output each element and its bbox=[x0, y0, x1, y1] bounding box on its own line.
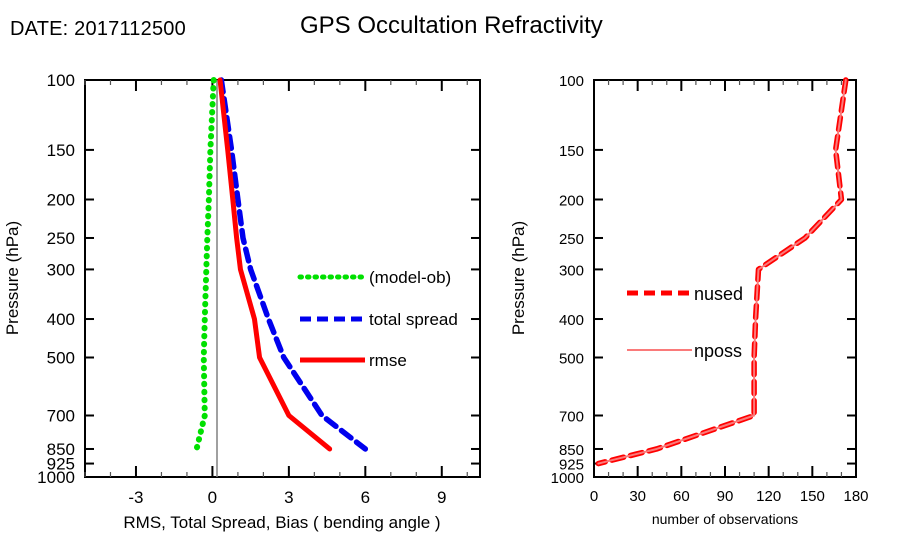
y-tick-label: 200 bbox=[47, 191, 75, 210]
left-x-axis-title: RMS, Total Spread, Bias ( bending angle … bbox=[123, 513, 440, 532]
legend-label-rmse: rmse bbox=[369, 351, 407, 370]
x-tick-label: 30 bbox=[629, 488, 646, 505]
right-y-axis-title: Pressure (hPa) bbox=[509, 221, 528, 335]
legend-label-nused: nused bbox=[694, 284, 743, 304]
right-x-tick-labels: 0306090120150180 bbox=[590, 488, 869, 505]
legend-label-total-spread: total spread bbox=[369, 310, 458, 329]
y-tick-label: 150 bbox=[47, 141, 75, 160]
y-tick-label: 400 bbox=[47, 310, 75, 329]
y-tick-label: 400 bbox=[559, 312, 584, 329]
y-tick-label: 500 bbox=[47, 348, 75, 367]
x-tick-label: 3 bbox=[284, 488, 293, 507]
plots-svg: 1001502002503004005007008509251000 -3036… bbox=[0, 0, 900, 560]
y-tick-label: 150 bbox=[559, 143, 584, 160]
y-tick-label: 700 bbox=[47, 407, 75, 426]
x-tick-label: 0 bbox=[590, 488, 598, 505]
x-tick-label: 90 bbox=[717, 488, 734, 505]
y-tick-label: 1000 bbox=[37, 468, 75, 487]
x-tick-label: 9 bbox=[437, 488, 446, 507]
left-x-tick-labels: -30369 bbox=[128, 488, 446, 507]
y-tick-label: 200 bbox=[559, 193, 584, 210]
series-nused bbox=[598, 80, 845, 464]
legend-label-nposs: nposs bbox=[694, 341, 742, 361]
series-nposs bbox=[598, 80, 845, 464]
x-tick-label: 150 bbox=[800, 488, 825, 505]
right-y-ticks bbox=[594, 80, 856, 477]
series--model-ob- bbox=[197, 80, 214, 449]
x-tick-label: 60 bbox=[673, 488, 690, 505]
left-data-series bbox=[197, 80, 366, 449]
figure-canvas: DATE: 2017112500 GPS Occultation Refract… bbox=[0, 0, 900, 560]
legend-label-model-ob: (model-ob) bbox=[369, 268, 451, 287]
right-x-axis-title: number of observations bbox=[652, 511, 798, 527]
x-tick-label: 0 bbox=[208, 488, 217, 507]
y-tick-label: 700 bbox=[559, 409, 584, 426]
x-tick-label: 120 bbox=[756, 488, 781, 505]
right-x-ticks bbox=[594, 80, 856, 477]
y-tick-label: 300 bbox=[47, 260, 75, 279]
y-tick-label: 250 bbox=[559, 231, 584, 248]
left-y-tick-labels: 1001502002503004005007008509251000 bbox=[37, 71, 75, 487]
left-y-axis-title: Pressure (hPa) bbox=[3, 221, 22, 335]
y-tick-label: 1000 bbox=[551, 470, 584, 487]
x-tick-label: -3 bbox=[128, 488, 143, 507]
x-tick-label: 180 bbox=[843, 488, 868, 505]
y-tick-label: 300 bbox=[559, 262, 584, 279]
y-tick-label: 100 bbox=[559, 73, 584, 90]
right-panel: 1001502002503004005007008509251000 03060… bbox=[509, 73, 869, 527]
y-tick-label: 250 bbox=[47, 229, 75, 248]
right-y-tick-labels: 1001502002503004005007008509251000 bbox=[551, 73, 584, 487]
x-tick-label: 6 bbox=[361, 488, 370, 507]
right-panel-frame bbox=[594, 80, 856, 477]
right-legend: nused nposs bbox=[627, 284, 743, 361]
series-rmse bbox=[220, 80, 330, 449]
right-data-series bbox=[598, 80, 845, 464]
y-tick-label: 500 bbox=[559, 350, 584, 367]
left-legend: (model-ob) total spread rmse bbox=[300, 268, 458, 370]
y-tick-label: 100 bbox=[47, 71, 75, 90]
series-total-spread bbox=[221, 80, 365, 449]
left-panel: 1001502002503004005007008509251000 -3036… bbox=[3, 71, 480, 532]
